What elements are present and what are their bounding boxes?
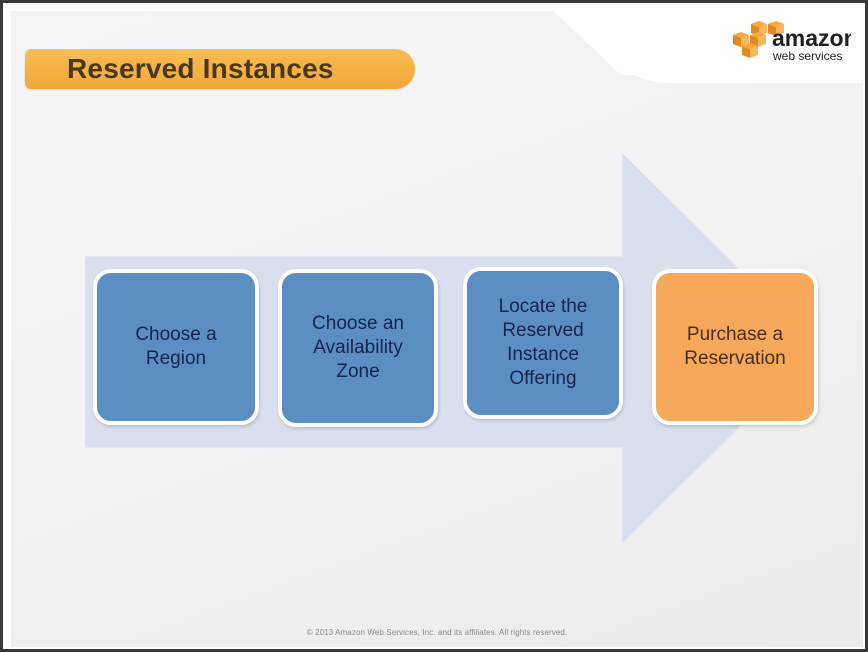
flow-step-label: Choose a Region [129,323,222,371]
flow-step-purchase-a-reservation[interactable]: Purchase a Reservation [652,269,818,425]
flow-step-choose-an-availability-zone[interactable]: Choose an Availability Zone [278,269,438,427]
title-banner: Reserved Instances [25,49,415,89]
aws-tagline: web services [772,49,842,63]
copyright-footer: © 2013 Amazon Web Services, Inc. and its… [11,628,863,637]
aws-wordmark: amazon [772,25,851,51]
page-title: Reserved Instances [67,49,334,89]
flow-step-choose-a-region[interactable]: Choose a Region [93,269,259,425]
aws-logo: amazon web services [723,20,851,66]
flow-step-label: Purchase a Reservation [678,323,791,371]
flow-step-label: Locate the Reserved Instance Offering [493,295,594,391]
slide-canvas: amazon web services Reserved Instances C… [11,11,863,647]
flow-step-label: Choose an Availability Zone [306,312,410,384]
flow-step-locate-the-reserved-instance-offering[interactable]: Locate the Reserved Instance Offering [463,267,623,419]
slide-frame: amazon web services Reserved Instances C… [0,0,868,652]
